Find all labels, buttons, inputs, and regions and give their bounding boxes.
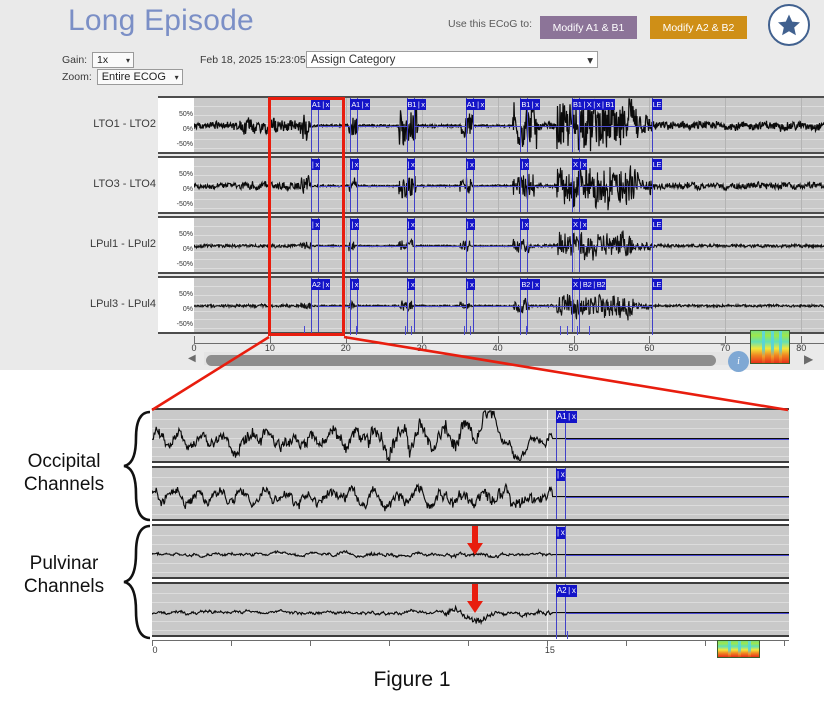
annotation-baseline bbox=[565, 555, 789, 556]
waveform bbox=[152, 410, 789, 463]
scrollbar-thumb[interactable] bbox=[206, 355, 716, 366]
annotation-badge[interactable]: | x bbox=[520, 219, 529, 230]
ecog-traces[interactable]: 50%0%-50%A1 | xA1 | xB1 | xA1 | xB1 | xB… bbox=[158, 96, 824, 336]
zoom-select[interactable]: Entire ECOG ▾ bbox=[97, 69, 183, 85]
annotation-baseline bbox=[414, 186, 466, 187]
annotation-baseline bbox=[579, 306, 652, 307]
channel-label: LTO3 - LTO4 bbox=[60, 178, 156, 190]
annotation-baseline bbox=[318, 246, 350, 247]
x-tick-label: 15 bbox=[545, 645, 555, 655]
annotation-badge[interactable]: | x bbox=[556, 469, 565, 481]
annotation-badge[interactable]: A2 | x bbox=[311, 279, 330, 290]
x-tick bbox=[649, 336, 650, 343]
annotation-baseline bbox=[473, 306, 521, 307]
y-tick-label: 0% bbox=[183, 126, 193, 133]
scroll-right-arrow[interactable]: ▶ bbox=[804, 352, 813, 366]
trace-row[interactable]: 50%0%-50%A1 | xA1 | xB1 | xA1 | xB1 | xB… bbox=[158, 96, 824, 154]
annotation-badge[interactable]: A1 | x bbox=[466, 99, 485, 110]
gain-value: 1x bbox=[97, 54, 108, 66]
pulvinar-brace bbox=[120, 524, 154, 640]
y-tick-label: 0% bbox=[183, 246, 193, 253]
scrollbar-track[interactable]: i bbox=[204, 352, 738, 365]
figure-container: Long Episode Use this ECoG to: Modify A1… bbox=[0, 0, 824, 707]
annotation-baseline bbox=[357, 306, 406, 307]
annotation-badge[interactable]: B1 | x bbox=[407, 99, 426, 110]
timeline-scrollbar[interactable]: ◀ i bbox=[186, 350, 738, 367]
scroll-left-arrow[interactable]: ◀ bbox=[188, 353, 196, 364]
y-axis: 50%0%-50% bbox=[158, 98, 194, 152]
x-tick bbox=[725, 336, 726, 343]
occipital-brace bbox=[120, 410, 154, 522]
y-tick-label: -50% bbox=[177, 141, 193, 148]
trace-row[interactable]: 50%0%-50%| x| x| x| x| xX | xLE bbox=[158, 216, 824, 274]
channel-label: LTO1 - LTO2 bbox=[60, 118, 156, 130]
annotation-badge[interactable]: A1 | x bbox=[350, 99, 369, 110]
x-tick bbox=[705, 640, 706, 646]
axis-line bbox=[152, 640, 789, 641]
y-tick-label: -50% bbox=[177, 261, 193, 268]
group-label-pulvinar: Pulvinar Channels bbox=[8, 552, 120, 598]
annotation-badge[interactable]: | x bbox=[311, 219, 320, 230]
annotation-badge[interactable]: LE bbox=[652, 99, 663, 110]
group-label-line1: Pulvinar bbox=[8, 552, 120, 575]
x-tick bbox=[574, 336, 575, 343]
group-label-occipital: Occipital Channels bbox=[8, 450, 120, 496]
annotation-badge[interactable]: | x bbox=[350, 219, 359, 230]
figure-caption: Figure 1 bbox=[0, 668, 824, 692]
annotation-badge[interactable]: | x bbox=[520, 159, 529, 170]
annotation-baseline bbox=[473, 186, 521, 187]
annotation-badge[interactable]: | x bbox=[466, 279, 475, 290]
trace-row[interactable]: 50%0%-50%A2 | x| x| x| xB2 | xX | B2 | B… bbox=[158, 276, 824, 334]
x-tick bbox=[498, 336, 499, 343]
annotation-baseline bbox=[318, 306, 350, 307]
y-tick-label: -50% bbox=[177, 321, 193, 328]
annotation-baseline bbox=[473, 246, 521, 247]
annotation-badge[interactable]: LE bbox=[652, 279, 663, 290]
y-axis: 50%0%-50% bbox=[158, 278, 194, 332]
annotation-baseline bbox=[565, 439, 789, 440]
annotation-badge[interactable]: LE bbox=[652, 219, 663, 230]
annotation-baseline bbox=[357, 126, 406, 127]
spectrogram-thumbnail-top[interactable] bbox=[750, 330, 790, 364]
y-axis: 50%0%-50% bbox=[158, 218, 194, 272]
assign-category-value: Assign Category bbox=[311, 54, 395, 66]
assign-category-select[interactable]: Assign Category ▾ bbox=[306, 51, 598, 68]
group-label-line2: Channels bbox=[8, 575, 120, 598]
annotation-badge[interactable]: B1 | X | x | B1 bbox=[572, 99, 615, 110]
annotation-badge[interactable]: | x bbox=[466, 219, 475, 230]
x-tick bbox=[310, 640, 311, 646]
annotation-badge[interactable]: | x bbox=[556, 527, 565, 539]
gain-select[interactable]: 1x ▾ bbox=[92, 52, 134, 68]
chevron-down-icon: ▾ bbox=[175, 73, 179, 82]
annotation-baseline bbox=[357, 186, 406, 187]
x-tick bbox=[389, 640, 390, 646]
annotation-baseline bbox=[579, 186, 652, 187]
annotation-baseline bbox=[414, 306, 466, 307]
annotation-baseline bbox=[565, 613, 789, 614]
y-tick-label: -50% bbox=[177, 201, 193, 208]
chevron-down-icon: ▾ bbox=[587, 53, 593, 67]
spectrogram-thumbnail-bottom[interactable] bbox=[717, 640, 760, 658]
y-tick-label: 50% bbox=[179, 111, 193, 118]
zoomed-trace-row[interactable]: A1 | x bbox=[152, 408, 789, 463]
x-tick bbox=[194, 336, 195, 343]
x-tick bbox=[231, 640, 232, 646]
annotation-baseline bbox=[318, 126, 350, 127]
annotation-baseline bbox=[318, 186, 350, 187]
zoom-value: Entire ECOG bbox=[102, 71, 166, 83]
ecog-viewer-panel: Long Episode Use this ECoG to: Modify A1… bbox=[0, 0, 824, 370]
annotation-badge[interactable]: B2 | x bbox=[520, 279, 539, 290]
annotation-badge[interactable]: | x bbox=[350, 279, 359, 290]
annotation-baseline bbox=[527, 186, 572, 187]
annotation-badge[interactable]: | x bbox=[407, 219, 416, 230]
x-tick bbox=[346, 336, 347, 343]
y-tick-label: 50% bbox=[179, 171, 193, 178]
zoomed-trace-row[interactable]: | x bbox=[152, 466, 789, 521]
x-tick bbox=[626, 640, 627, 646]
x-tick-label: 0 bbox=[152, 645, 157, 655]
annotation-badge[interactable]: | x bbox=[350, 159, 359, 170]
trace-row[interactable]: 50%0%-50%| x| x| x| x| xX | xLE bbox=[158, 156, 824, 214]
modify-a2-b2-button[interactable]: Modify A2 & B2 bbox=[650, 16, 747, 39]
chevron-down-icon: ▾ bbox=[126, 56, 130, 65]
zoom-control: Zoom: Entire ECOG ▾ bbox=[62, 69, 183, 85]
gain-label: Gain: bbox=[62, 54, 87, 66]
annotation-baseline bbox=[414, 126, 466, 127]
modify-a1-b1-button[interactable]: Modify A1 & B1 bbox=[540, 16, 637, 39]
annotation-baseline bbox=[527, 306, 572, 307]
page-title: Long Episode bbox=[68, 4, 254, 38]
annotation-badge[interactable]: | x bbox=[407, 279, 416, 290]
channel-label: LPul1 - LPul2 bbox=[60, 238, 156, 250]
down-arrow-icon bbox=[466, 584, 484, 614]
annotation-badge[interactable]: LE bbox=[652, 159, 663, 170]
y-tick-label: 50% bbox=[179, 231, 193, 238]
annotation-baseline bbox=[357, 246, 406, 247]
x-tick bbox=[784, 640, 785, 646]
y-tick-label: 50% bbox=[179, 291, 193, 298]
annotation-badge[interactable]: B1 | x bbox=[520, 99, 539, 110]
x-tick bbox=[468, 640, 469, 646]
annotation-baseline bbox=[527, 246, 572, 247]
annotation-badge[interactable]: A1 | x bbox=[311, 99, 330, 110]
down-arrow-icon bbox=[466, 526, 484, 556]
annotation-badge[interactable]: X | x bbox=[572, 159, 587, 170]
zoom-label: Zoom: bbox=[62, 71, 92, 83]
annotation-baseline bbox=[527, 126, 572, 127]
annotation-badge[interactable]: | x bbox=[311, 159, 320, 170]
annotation-badge[interactable]: | x bbox=[466, 159, 475, 170]
annotation-badge[interactable]: X | x bbox=[572, 219, 587, 230]
annotation-baseline bbox=[414, 246, 466, 247]
annotation-badge[interactable]: A1 | x bbox=[556, 411, 577, 423]
use-ecog-label: Use this ECoG to: bbox=[448, 18, 532, 30]
gain-control: Gain: 1x ▾ bbox=[62, 52, 134, 68]
y-axis: 50%0%-50% bbox=[158, 158, 194, 212]
group-label-line1: Occipital bbox=[8, 450, 120, 473]
channel-label: LPul3 - LPul4 bbox=[60, 298, 156, 310]
group-label-line2: Channels bbox=[8, 473, 120, 496]
waveform bbox=[152, 468, 789, 521]
annotation-baseline bbox=[473, 126, 521, 127]
x-tick bbox=[270, 336, 271, 343]
annotation-baseline bbox=[579, 126, 652, 127]
annotation-badge[interactable]: | x bbox=[407, 159, 416, 170]
scrollbar-info-knob[interactable]: i bbox=[728, 351, 749, 372]
episode-timestamp: Feb 18, 2025 15:23:05 bbox=[200, 54, 306, 66]
x-tick bbox=[801, 336, 802, 343]
annotation-baseline bbox=[579, 246, 652, 247]
time-axis-bottom: 015 bbox=[152, 640, 789, 658]
x-tick bbox=[422, 336, 423, 343]
annotation-badge[interactable]: X | B2 | B2 bbox=[572, 279, 606, 290]
star-icon[interactable] bbox=[768, 4, 810, 46]
annotation-badge[interactable]: A2 | x bbox=[556, 585, 577, 597]
y-tick-label: 0% bbox=[183, 306, 193, 313]
annotation-baseline bbox=[565, 497, 789, 498]
y-tick-label: 0% bbox=[183, 186, 193, 193]
